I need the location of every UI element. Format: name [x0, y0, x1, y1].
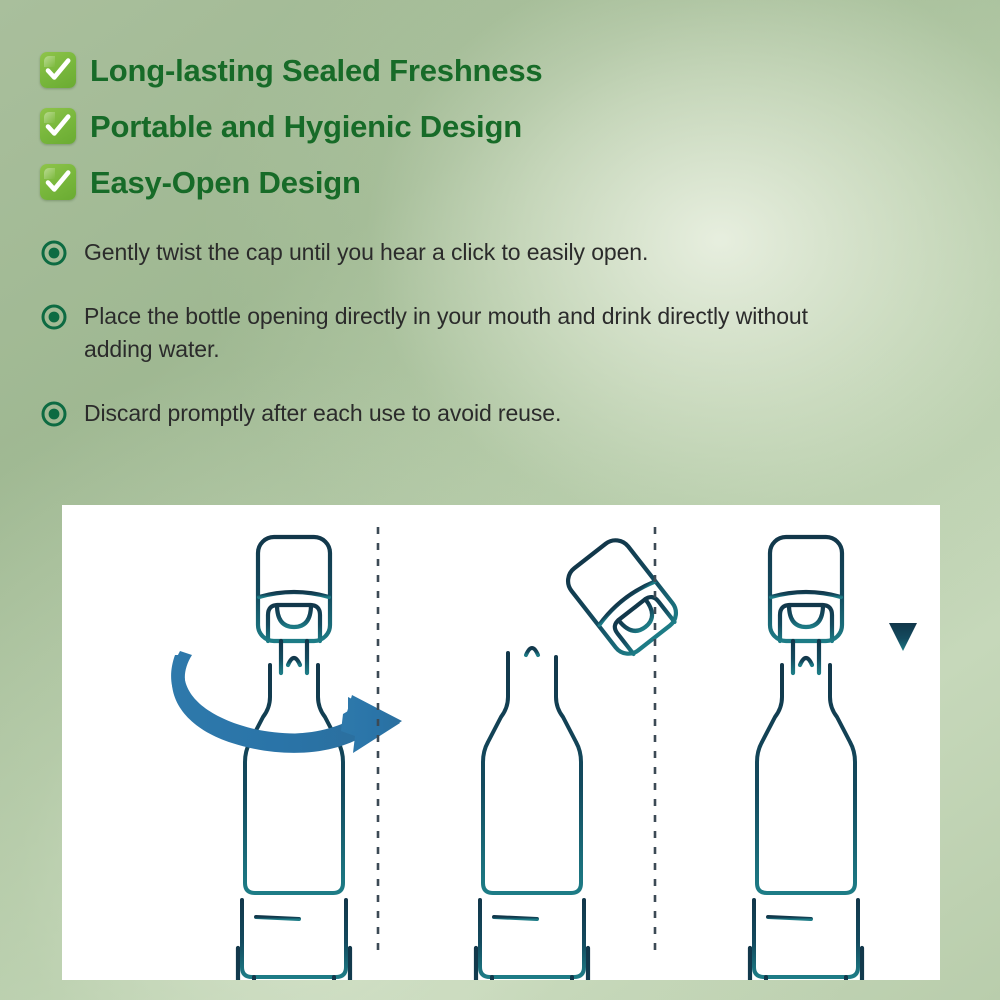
- circular-twist-arrow-icon: [170, 651, 402, 753]
- feature-item: Easy-Open Design: [40, 154, 860, 210]
- instruction-item: Discard promptly after each use to avoid…: [40, 397, 830, 431]
- check-square-icon: [40, 52, 76, 88]
- down-arrow-icon: [889, 563, 917, 651]
- instruction-item: Gently twist the cap until you hear a cl…: [40, 236, 830, 270]
- promo-page: Long-lasting Sealed Freshness Portable a…: [0, 0, 1000, 1000]
- feature-label: Long-lasting Sealed Freshness: [90, 55, 542, 86]
- radio-bullet-icon: [40, 239, 68, 267]
- radio-bullet-icon: [40, 400, 68, 428]
- bottle-cap-tilted-icon: [562, 534, 683, 660]
- feature-label: Portable and Hygienic Design: [90, 111, 522, 142]
- instruction-text: Discard promptly after each use to avoid…: [84, 397, 561, 431]
- feature-item: Portable and Hygienic Design: [40, 98, 860, 154]
- instruction-item: Place the bottle opening directly in you…: [40, 300, 830, 367]
- feature-item: Long-lasting Sealed Freshness: [40, 42, 860, 98]
- check-square-icon: [40, 164, 76, 200]
- usage-illustration-panel: [62, 505, 940, 980]
- instruction-list: Gently twist the cap until you hear a cl…: [40, 236, 830, 460]
- feature-label: Easy-Open Design: [90, 167, 361, 198]
- step-press-down: [750, 537, 917, 980]
- step-remove-cap: [476, 534, 682, 980]
- step-twist-cap: [170, 537, 402, 980]
- check-square-icon: [40, 108, 76, 144]
- feature-list: Long-lasting Sealed Freshness Portable a…: [40, 42, 860, 210]
- usage-steps-diagram: [62, 505, 940, 980]
- instruction-text: Gently twist the cap until you hear a cl…: [84, 236, 648, 270]
- instruction-text: Place the bottle opening directly in you…: [84, 300, 824, 367]
- radio-bullet-icon: [40, 303, 68, 331]
